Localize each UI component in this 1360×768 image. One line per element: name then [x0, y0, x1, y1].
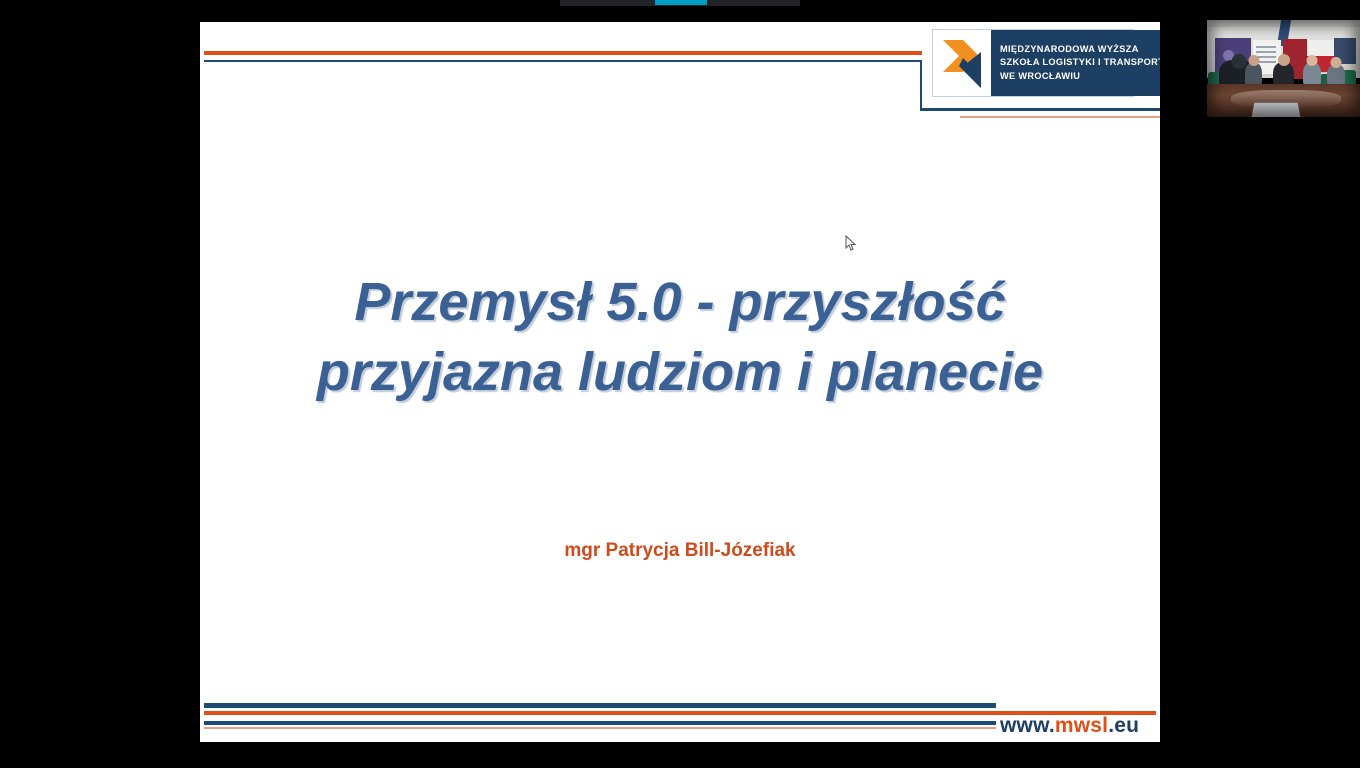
top-navy-vertical-rule: [920, 60, 922, 110]
logo-line-2: SZKOŁA LOGISTYKI I TRANSPORTU: [1000, 56, 1160, 70]
slide-author: mgr Patrycja Bill-Józefiak: [260, 540, 1100, 562]
top-orange-rule: [204, 51, 922, 55]
presentation-slide[interactable]: MIĘDZYNARODOWA WYŻSZA SZKOŁA LOGISTYKI I…: [200, 22, 1160, 742]
screen-root: MIĘDZYNARODOWA WYŻSZA SZKOŁA LOGISTYKI I…: [0, 0, 1360, 768]
footer-orange-rule-secondary: [204, 727, 996, 729]
webcam-video-thumbnail[interactable]: [1207, 20, 1360, 117]
logo-wordmark: MIĘDZYNARODOWA WYŻSZA SZKOŁA LOGISTYKI I…: [991, 30, 1160, 96]
top-navy-rule: [204, 60, 922, 62]
logo-line-1: MIĘDZYNARODOWA WYŻSZA: [1000, 43, 1160, 57]
video-vignette: [1207, 20, 1360, 117]
footer-website-url[interactable]: www.mwsl.eu: [1000, 714, 1139, 738]
slide-title: Przemysł 5.0 - przyszłość przyjazna ludz…: [260, 267, 1100, 407]
footer-url-brand: mwsl: [1055, 714, 1108, 737]
footer-url-tld: .eu: [1108, 714, 1139, 737]
university-logo: MIĘDZYNARODOWA WYŻSZA SZKOŁA LOGISTYKI I…: [932, 29, 1134, 97]
logo-line-3: WE WROCŁAWIU: [1000, 70, 1160, 84]
top-navy-rule-under-logo: [920, 108, 1160, 111]
top-orange-rule-secondary: [960, 116, 1160, 118]
footer-url-prefix: www.: [1000, 714, 1055, 737]
footer-navy-rule-bottom: [204, 721, 996, 725]
logo-chevron-icon: [933, 30, 991, 96]
footer-navy-rule-top: [204, 703, 996, 708]
app-toolbar-active-indicator[interactable]: [655, 0, 707, 5]
mouse-cursor: [845, 235, 857, 253]
